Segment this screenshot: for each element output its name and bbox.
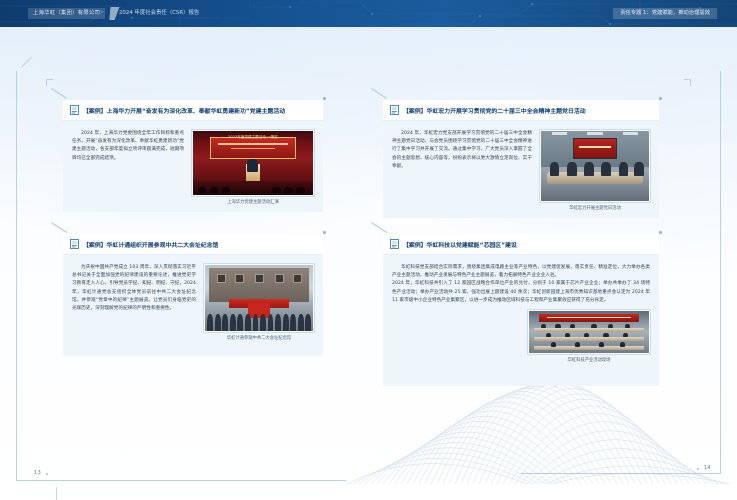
- card-body: 为庆祝中国共产党成立 103 周年，深入贯彻落实习近平总书记关于全面加强党的纪律…: [63, 255, 323, 356]
- photo-attendee: [555, 324, 560, 329]
- photo-artwork-group: [205, 265, 313, 331]
- card-title-bar: 【案例】上海华力开展“奋发有为深化改革、奉献华虹勇建新功”党建主题活动: [63, 100, 323, 121]
- photo-ceiling-lamp: [587, 132, 602, 135]
- card-corner-dot: [659, 97, 662, 100]
- photo-caption: 华虹宏力开展主题党日活动: [569, 205, 621, 211]
- photo-audience-seat: [296, 187, 304, 193]
- card-media-column: 华虹宏力开展主题党日活动: [540, 130, 650, 211]
- frame-line-left: [16, 71, 17, 481]
- case-card-huahong-grace: 【案例】华虹宏力开展学习贯彻党的二十届三中全会精神主题党日活动 2024 年，华…: [383, 100, 659, 218]
- card-corner-dot: [659, 231, 662, 234]
- photo-audience-seat: [272, 187, 280, 193]
- page-number-right: 14: [704, 465, 711, 471]
- report-title-text: 2024 年度社会责任（CSR）报告: [119, 8, 199, 19]
- card-title-text: 【案例】上海华力开展“奋发有为深化改革、奉献华虹勇建新功”党建主题活动: [83, 106, 285, 115]
- card-body: 2024 年，华虹宏力党支部开展学习贯彻党的二十届三中全会精神主题党日活动，与会…: [383, 121, 659, 218]
- photo-person: [268, 314, 274, 331]
- photo-person: [222, 314, 228, 331]
- photo-stage-screen: [210, 137, 296, 159]
- card-title-text: 【案例】华虹科技以党建赋能“芯园区”建设: [403, 240, 517, 249]
- document-icon: [70, 239, 79, 249]
- photo-attendee: [601, 162, 611, 176]
- photo-caption: 华虹计通参观中共二大会址纪念馆: [227, 335, 291, 341]
- frame-line-bottom-left: [16, 480, 346, 481]
- corner-notch-top-left: [46, 79, 53, 86]
- photo-artwork-meeting-room: [541, 131, 649, 201]
- case-photo: [540, 130, 650, 202]
- case-photo: [204, 264, 314, 332]
- photo-attendee: [608, 324, 613, 329]
- photo-window: [255, 274, 264, 283]
- card-text-column: 2024 年，上海华力党委围绕全年工作目标和重点任务，开展“奋发有为深化改革、奉…: [72, 130, 184, 205]
- photo-audience-seat: [222, 187, 230, 193]
- photo-person: [215, 314, 221, 331]
- photo-audience-desk: [534, 337, 644, 341]
- card-corner-dot: [323, 97, 326, 100]
- case-card-huahong-keji: 【案例】华虹科技以党建赋能“芯园区”建设 华虹科技党支部结合实际需求，围绕集团集…: [383, 234, 659, 386]
- photo-museum-building: [209, 268, 308, 302]
- topic-badge: 责任专题 1：党建赋能，推动治理提效: [613, 8, 717, 19]
- photo-attendee: [567, 162, 577, 176]
- photo-audience-seat: [210, 187, 218, 193]
- card-title-text: 【案例】华虹计通组织开展参观中共二大会址纪念馆: [83, 240, 218, 249]
- case-photo: 2023年度党建主题活动 一等奖: [192, 130, 314, 196]
- photo-attendee: [570, 324, 575, 329]
- page-number-dot-left: [46, 473, 48, 475]
- photo-attendee: [603, 333, 608, 338]
- photo-person: [237, 314, 243, 331]
- photo-person: [260, 314, 266, 331]
- photo-audience-seat: [284, 187, 292, 193]
- photo-audience-desk: [534, 328, 644, 332]
- photo-screen-line-1: [218, 143, 289, 145]
- photo-stage-person: [247, 159, 258, 172]
- photo-attendee: [551, 342, 556, 347]
- topic-badge-text: 责任专题 1：党建赋能，推动治理提效: [620, 8, 710, 19]
- photo-window: [275, 274, 284, 283]
- photo-person: [245, 314, 251, 331]
- card-paragraph: 2024 年，上海华力党委围绕全年工作目标和重点任务，开展“奋发有为深化改革、奉…: [72, 130, 184, 163]
- card-media-column: 2023年度党建主题活动 一等奖 上海华力党建主题活动汇演: [192, 130, 314, 205]
- photo-attendee: [584, 333, 589, 338]
- report-header-band: 上海华虹（集团）有限公司 2024 年度社会责任（CSR）报告 责任专题 1：党…: [0, 0, 737, 27]
- case-card-huahong-jitong: 【案例】华虹计通组织开展参观中共二大会址纪念馆 为庆祝中国共产党成立 103 周…: [63, 234, 323, 356]
- document-icon: [70, 105, 79, 115]
- photo-attendee: [599, 342, 604, 347]
- photo-window: [217, 274, 226, 283]
- case-photo: [528, 310, 650, 354]
- card-title-bar: 【案例】华虹计通组织开展参观中共二大会址纪念馆: [63, 234, 323, 255]
- photo-ceiling-lamp: [552, 132, 567, 135]
- card-title-bar: 【案例】华虹科技以党建赋能“芯园区”建设: [383, 234, 659, 255]
- photo-people-row: [205, 314, 313, 331]
- photo-ceiling-lamp: [623, 132, 638, 135]
- photo-conference-table: [547, 172, 642, 185]
- company-name-pill: 上海华虹（集团）有限公司: [28, 8, 105, 19]
- photo-attendee: [546, 333, 551, 338]
- photo-person: [230, 314, 236, 331]
- photo-attendee: [625, 324, 630, 329]
- photo-person: [283, 314, 289, 331]
- photo-screen-line-2: [231, 148, 275, 149]
- photo-attendee: [575, 342, 580, 347]
- photo-caption: 华虹科技产业活动现场: [568, 357, 611, 363]
- card-media-column: 华虹计通参观中共二大会址纪念馆: [204, 264, 314, 349]
- corner-notch-top-right: [684, 79, 691, 86]
- company-name-text: 上海华虹（集团）有限公司: [33, 8, 100, 19]
- photo-display-screen: [573, 138, 616, 159]
- photo-attendee: [591, 324, 596, 329]
- card-body: 2024 年，上海华力党委围绕全年工作目标和重点任务，开展“奋发有为深化改革、奉…: [63, 121, 323, 212]
- photo-window: [293, 274, 302, 283]
- case-card-shanghai-huali: 【案例】上海华力开展“奋发有为深化改革、奉献华虹勇建新功”党建主题活动 2024…: [63, 100, 323, 212]
- card-text-column: 华虹科技党支部结合实际需求，围绕集团集成电路主业等产业特色，以党建促发展，落实责…: [392, 264, 650, 305]
- card-paragraph: 2024 年，华虹宏力党支部开展学习贯彻党的二十届三中全会精神主题党日活动，与会…: [392, 130, 532, 171]
- photo-screen-banner: [579, 146, 612, 148]
- photo-window: [235, 274, 244, 283]
- photo-artwork-stage: [193, 131, 313, 195]
- photo-attendee: [541, 324, 546, 329]
- photo-person: [253, 314, 259, 331]
- photo-attendee: [565, 333, 570, 338]
- photo-person: [275, 314, 281, 331]
- card-text-column: 2024 年，华虹宏力党支部开展学习贯彻党的二十届三中全会精神主题党日活动，与会…: [392, 130, 532, 211]
- photo-overlay-caption: 2023年度党建主题活动 一等奖: [200, 135, 306, 140]
- photo-person: [298, 314, 304, 331]
- card-paragraph: 为庆祝中国共产党成立 103 周年，深入贯彻落实习近平总书记关于全面加强党的纪律…: [72, 264, 196, 313]
- photo-attendee: [584, 162, 594, 176]
- photo-person: [290, 314, 296, 331]
- page-number-left: 13: [34, 470, 41, 476]
- card-body: 华虹科技党支部结合实际需求，围绕集团集成电路主业等产业特色，以党建促发展，落实责…: [383, 255, 659, 386]
- photo-artwork-hall: [529, 311, 649, 353]
- card-media-column: 华虹科技产业活动现场: [528, 310, 650, 363]
- frame-line-footer-tick: [56, 487, 57, 500]
- photo-caption: 上海华力党建主题活动汇演: [227, 199, 279, 205]
- photo-person: [305, 314, 311, 331]
- document-icon: [390, 105, 399, 115]
- card-corner-dot: [323, 231, 326, 234]
- photo-attendee: [634, 162, 644, 176]
- photo-person: [207, 314, 213, 331]
- card-title-text: 【案例】华虹宏力开展学习贯彻党的二十届三中全会精神主题党日活动: [403, 106, 586, 115]
- photo-banner-text-line: [547, 317, 632, 318]
- card-text-column: 为庆祝中国共产党成立 103 周年，深入贯彻落实习近平总书记关于全面加强党的纪律…: [72, 264, 196, 349]
- card-paragraph: 华虹科技党支部结合实际需求，围绕集团集成电路主业等产业特色，以党建促发展，落实责…: [392, 264, 650, 305]
- photo-audience-seat: [198, 187, 206, 193]
- photo-attendee: [550, 162, 560, 176]
- report-page: 【案例】上海华力开展“奋发有为深化改革、奉献华虹勇建新功”党建主题活动 2024…: [0, 27, 737, 500]
- photo-audience-desk: [534, 346, 644, 350]
- photo-stage-banner: [539, 314, 640, 322]
- photo-attendee: [620, 342, 625, 347]
- page-number-dot-right: [697, 468, 699, 470]
- document-icon: [390, 239, 399, 249]
- card-title-bar: 【案例】华虹宏力开展学习贯彻党的二十届三中全会精神主题党日活动: [383, 100, 659, 121]
- photo-attendee: [623, 333, 628, 338]
- photo-attendee: [619, 162, 629, 176]
